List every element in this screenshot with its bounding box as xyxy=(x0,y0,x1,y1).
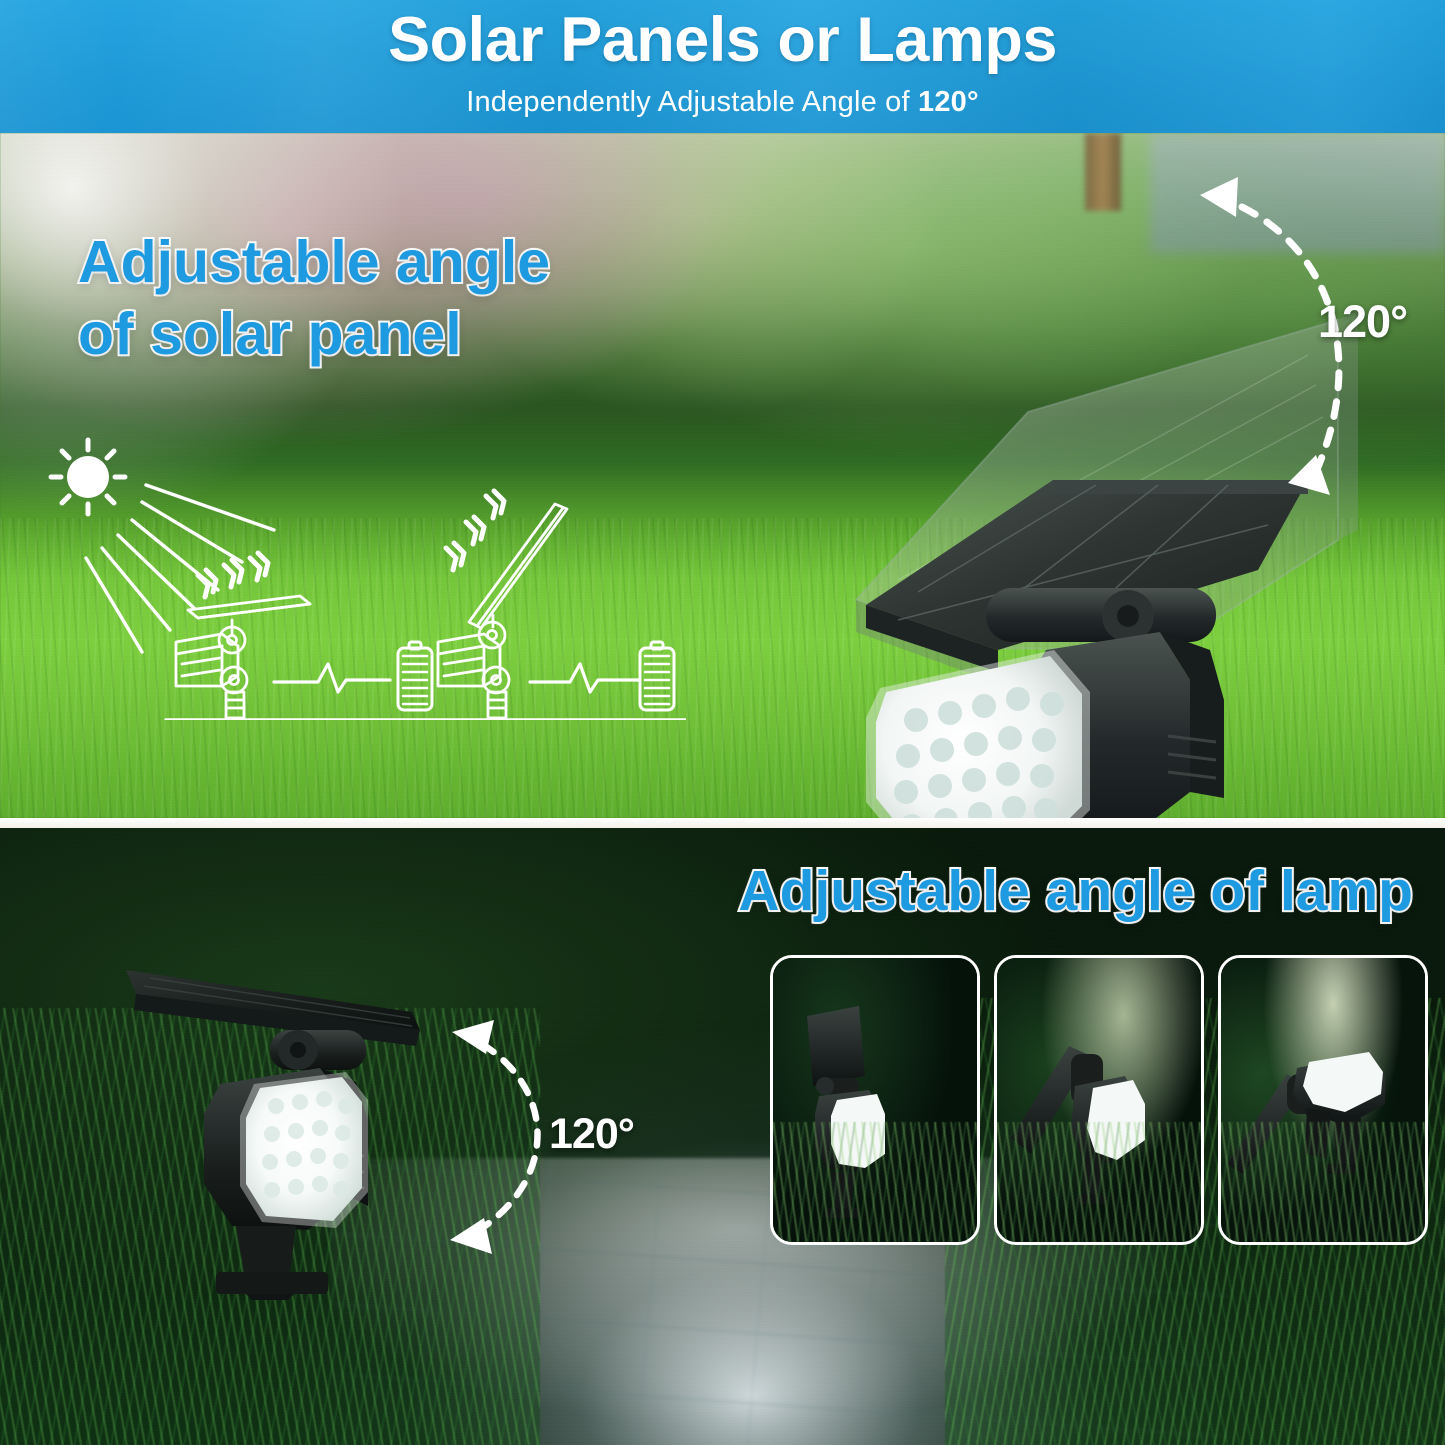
hinge-joint xyxy=(270,1030,366,1070)
ground-stake xyxy=(216,1226,328,1300)
header-subtitle-text: Independently Adjustable Angle of xyxy=(466,86,918,118)
double-chevron-down-icon-2 xyxy=(446,491,504,570)
double-chevron-down-icon-1 xyxy=(198,553,268,597)
sun-rays-icon xyxy=(86,485,274,652)
sun-icon xyxy=(51,440,125,514)
bottom-headline: Adjustable angle of lamp xyxy=(738,858,1413,924)
thumbnail-lamp-angle-up[interactable] xyxy=(1218,955,1428,1245)
thumb-grass xyxy=(1221,1122,1425,1242)
header-subtitle: Independently Adjustable Angle of 120° xyxy=(0,86,1445,119)
panel-divider xyxy=(0,818,1445,828)
solar-lamp-tilted-panel-icon xyxy=(438,504,567,720)
battery-icon-2 xyxy=(640,642,674,710)
battery-icon-1 xyxy=(398,642,432,710)
angle-label-top: 120° xyxy=(1318,296,1407,348)
thumb-grass xyxy=(773,1122,977,1242)
header-banner: Solar Panels or Lamps Independently Adju… xyxy=(0,0,1445,133)
led-array xyxy=(240,1072,368,1228)
top-headline: Adjustable angle of solar panel xyxy=(78,226,550,370)
hinge-joint xyxy=(986,588,1216,642)
thumb-grass xyxy=(997,1122,1201,1242)
product-feature-image: Solar Panels or Lamps Independently Adju… xyxy=(0,0,1445,1445)
lamp-angle-thumbnails xyxy=(770,955,1430,1245)
solar-lamp-flat-panel-icon xyxy=(176,596,310,720)
pulse-line-icon-2 xyxy=(530,664,638,692)
angle-label-bottom: 120° xyxy=(549,1110,634,1159)
solar-charging-infographic xyxy=(46,430,686,720)
thumbnail-lamp-angle-mid[interactable] xyxy=(994,955,1204,1245)
solar-panel xyxy=(126,970,420,1046)
pulse-line-icon-1 xyxy=(274,664,390,692)
header-subtitle-angle: 120° xyxy=(918,86,979,118)
page-title: Solar Panels or Lamps xyxy=(0,4,1445,76)
led-array xyxy=(866,650,1090,830)
thumbnail-lamp-angle-down[interactable] xyxy=(770,955,980,1245)
